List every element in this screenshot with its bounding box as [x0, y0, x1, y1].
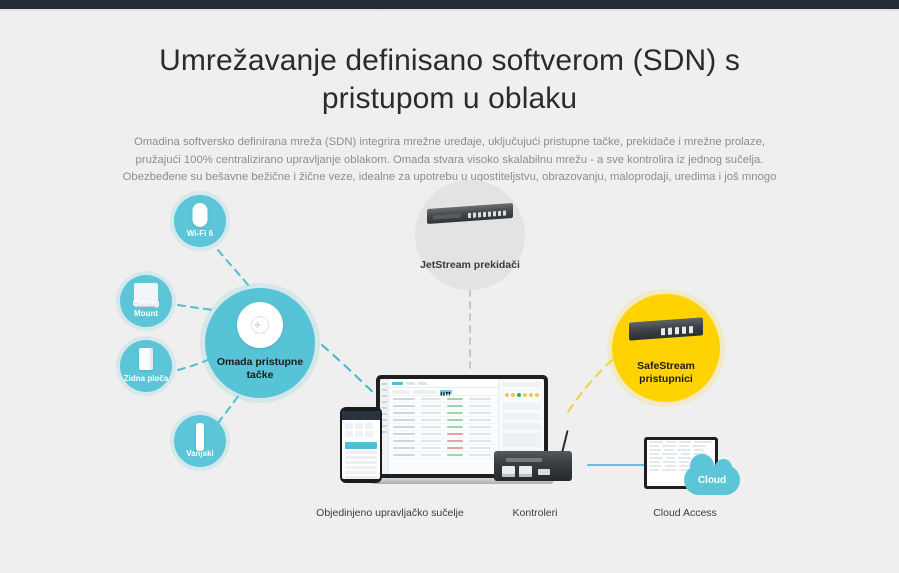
- network-diagram: Wi-Fi 6 Ceiling Mount Zidna ploča Vanjsk…: [0, 175, 899, 573]
- omada-ap-disc-icon: [237, 302, 283, 348]
- dashboard-main: [389, 379, 498, 474]
- table-row: [389, 445, 498, 452]
- access-point-icon: [193, 203, 208, 227]
- cloud-badge-label: Cloud: [698, 475, 726, 486]
- feature-node-ceiling-mount[interactable]: Ceiling Mount: [120, 275, 172, 327]
- feature-node-label: Zidna ploča: [124, 374, 168, 384]
- dashboard-table: [389, 396, 498, 474]
- hub-node-label: SafeStream pristupnici: [612, 360, 720, 386]
- hub-node-label: JetStream prekidači: [420, 259, 520, 272]
- router-icon: [629, 317, 703, 340]
- feature-node-wall-plate[interactable]: Zidna ploča: [120, 340, 172, 392]
- table-row: [389, 403, 498, 410]
- caption-controllers: Kontroleri: [470, 507, 600, 519]
- usb-port: [538, 469, 550, 475]
- hub-node-safestream-gateways[interactable]: SafeStream pristupnici: [612, 294, 720, 402]
- dashboard-filter-bar: [389, 388, 498, 396]
- dashboard-topbar: [389, 379, 498, 388]
- caption-cloud-access: Cloud Access: [620, 507, 750, 519]
- cloud-badge: Cloud: [684, 465, 740, 495]
- smartphone-device[interactable]: [340, 407, 382, 483]
- hub-node-jetstream-switches[interactable]: JetStream prekidači: [415, 180, 525, 290]
- feature-node-label: Ceiling Mount: [120, 299, 172, 319]
- table-row: [389, 431, 498, 438]
- top-navigation-bar: [0, 0, 899, 9]
- feature-node-label: Vanjski: [186, 449, 214, 459]
- table-row: [389, 410, 498, 417]
- table-row: [389, 452, 498, 459]
- feature-node-outdoor[interactable]: Vanjski: [174, 415, 226, 467]
- mobile-app-highlight: [345, 442, 377, 449]
- wall-plate-icon: [139, 348, 153, 370]
- network-switch-icon: [427, 203, 513, 224]
- ethernet-ports: [502, 466, 532, 477]
- hub-node-omada-access-points[interactable]: Omada pristupne tačke: [205, 288, 315, 398]
- feature-node-label: Wi-Fi 6: [187, 229, 213, 239]
- feature-node-wifi6[interactable]: Wi-Fi 6: [174, 195, 226, 247]
- mobile-app-stats-grid: [342, 420, 380, 440]
- table-row: [389, 396, 498, 403]
- device-status-dots: [499, 390, 544, 400]
- mobile-app-header: [342, 411, 380, 420]
- page-title: Umrežavanje definisano softverom (SDN) s…: [0, 12, 899, 118]
- outdoor-ap-icon: [196, 423, 204, 451]
- page-root: Umrežavanje definisano softverom (SDN) s…: [0, 0, 899, 573]
- controller-brand-logo: [506, 458, 542, 462]
- table-row: [389, 424, 498, 431]
- table-row: [389, 438, 498, 445]
- hub-node-label: Omada pristupne tačke: [205, 356, 315, 382]
- omada-hardware-controller[interactable]: [494, 451, 572, 481]
- table-row: [389, 417, 498, 424]
- omada-mobile-app-ui: [342, 411, 380, 479]
